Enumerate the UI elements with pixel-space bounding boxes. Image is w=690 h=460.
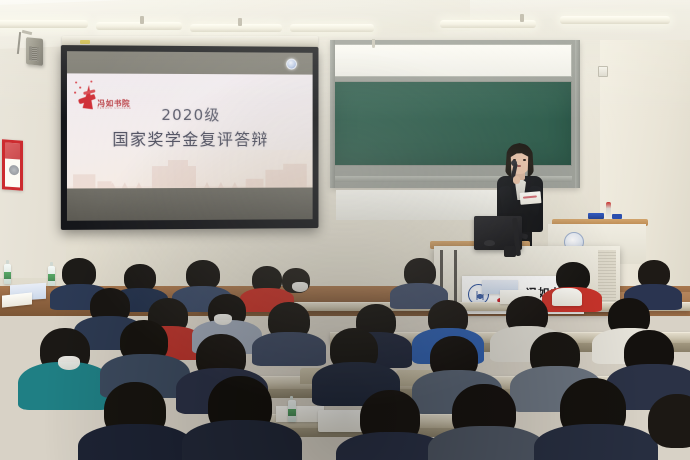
ceiling-light-1: [0, 20, 88, 28]
face-mask-icon: [58, 356, 80, 370]
ceiling-light-4: [290, 24, 374, 32]
face-mask-icon: [292, 282, 308, 292]
chalkboard-surface: [334, 81, 572, 166]
slide-title-line2: 国家奖学金复评答辩: [67, 126, 313, 150]
board-rail-right: [575, 40, 580, 188]
screen-surface: 冯如书院 FENGRU COLLEGE 2020级 国家奖学金复评答辩: [67, 51, 313, 221]
presenter-mouth: [517, 165, 521, 167]
monitor-clamp: [504, 246, 516, 257]
ceiling-light-3: [190, 24, 282, 32]
audience-shoulders: [534, 424, 658, 460]
presenter-hand: [513, 176, 520, 184]
presentation-slide: 冯如书院 FENGRU COLLEGE 2020级 国家奖学金复评答辩: [67, 73, 313, 192]
audience-shoulders: [182, 420, 302, 460]
desk-item-blue: [588, 213, 604, 219]
projection-screen: 冯如书院 FENGRU COLLEGE 2020级 国家奖学金复评答辩: [61, 45, 319, 230]
housing-label-tag: [80, 40, 90, 44]
presenter-eye-right: [523, 159, 526, 161]
document-paper: [276, 406, 324, 422]
hood-white: [552, 288, 582, 306]
audience-head: [648, 394, 690, 448]
wall-speaker-icon: [26, 37, 43, 66]
audience-shoulders: [428, 426, 546, 460]
water-bottle: [48, 266, 55, 286]
desk-bottle: [606, 202, 611, 219]
slide-title-line1: 2020级: [67, 104, 313, 125]
document-paper: [2, 292, 32, 307]
light-bracket-1: [140, 16, 144, 24]
audience-shoulders: [78, 424, 194, 460]
face-mask-icon: [214, 314, 232, 325]
water-bottle: [288, 400, 296, 422]
desk-item-blue-2: [612, 214, 622, 219]
audience-area: [0, 258, 690, 460]
presenter-note-card: [520, 191, 542, 205]
ceiling-light-2: [96, 22, 182, 30]
light-bracket-3: [520, 14, 524, 22]
board-rail-left: [330, 40, 335, 188]
buaa-seal-icon: [286, 59, 297, 70]
whiteboard-strip: [334, 44, 572, 77]
wall-poster: [2, 139, 23, 190]
poster-seal-icon: [9, 165, 19, 176]
board-clip-icon: [372, 39, 375, 48]
light-bracket-2: [238, 18, 242, 26]
poster-header-band: [5, 142, 20, 159]
blackboard: [330, 40, 580, 188]
ceiling-light-6: [560, 16, 670, 24]
screen-lower-margin: [67, 188, 313, 221]
slide-skyline-watermark: [67, 148, 313, 193]
lecture-hall-photo: 冯如书院 FENGRU COLLEGE 2020级 国家奖学金复评答辩: [0, 0, 690, 460]
wall-outlet-icon: [598, 66, 608, 77]
computer-mouse-icon: [484, 240, 495, 246]
audience-shoulders: [252, 332, 326, 366]
water-bottle: [4, 264, 11, 284]
